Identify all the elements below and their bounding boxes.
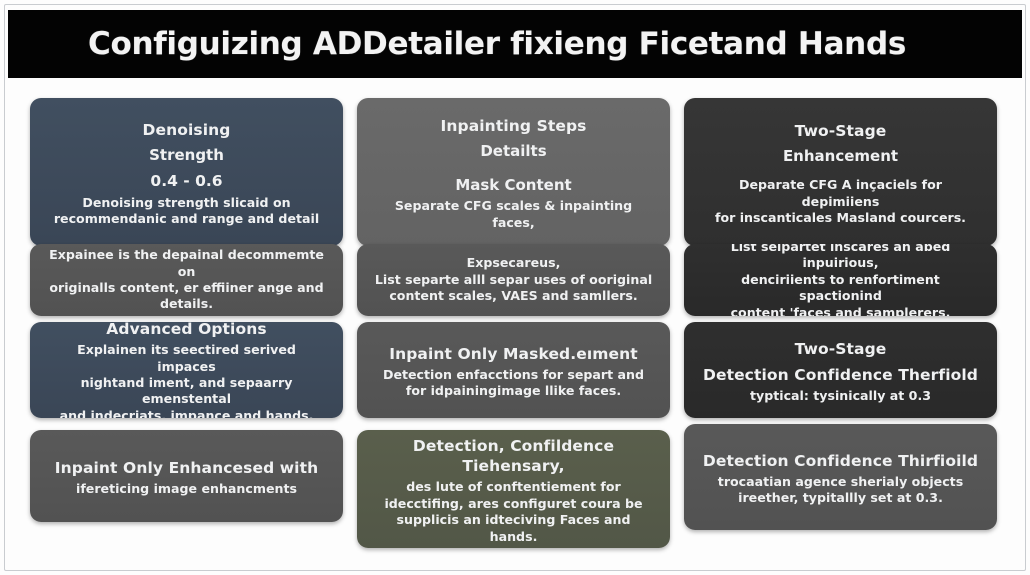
card-original-content-note[interactable]: Expainee is the depainal decommemte onor… <box>30 244 343 316</box>
card-body-line: Detection enfacctions for separt and <box>373 367 654 383</box>
card-two-stage-enhancement[interactable]: Two-StageEnhancementDeparate CFG A inçac… <box>684 98 997 246</box>
card-subtitle-line: Enhancement <box>700 147 981 167</box>
card-body-line: Explainen its seectired serived impaces <box>46 342 327 375</box>
card-body-line: ireether, typitallly set at 0.3. <box>700 490 981 506</box>
card-body-line: nightand iment, and sepaarry emenstental <box>46 375 327 408</box>
card-inpainting-steps-details[interactable]: Inpainting StepsDetailtsMask ContentSepa… <box>357 98 670 246</box>
card-body-line: supplicis an idteciving Faces and hands. <box>373 512 654 545</box>
card-detection-confidence-threshold[interactable]: Detection Confidence Thirfioildtrocaatia… <box>684 424 997 530</box>
header-bar: Configuizing ADDetailer fixieng Ficetand… <box>8 10 1022 78</box>
card-body-line: recommendanic and range and detail <box>46 211 327 227</box>
card-spacer <box>700 169 981 177</box>
card-expsecareus-note[interactable]: Expsecareus,List separte alll separ uses… <box>357 244 670 316</box>
card-body-line: and indecriats, impance and hands. <box>46 408 327 418</box>
card-title-line: Inpaint Only Masked.eıment <box>373 344 654 364</box>
card-title-line: Detection Confidence Therfiold <box>700 365 981 385</box>
card-body-line: Deparate CFG A inçaciels for depimiiens <box>700 177 981 210</box>
card-body-line: List separte alll separ uses of oorigina… <box>373 272 654 288</box>
card-denoising-strength[interactable]: DenoisingStrength0.4 - 0.6Denoising stre… <box>30 98 343 246</box>
card-inpaint-only-enhanced[interactable]: Inpaint Only Enhancesed withifereticing … <box>30 430 343 522</box>
card-title-line: Two-Stage <box>700 121 981 141</box>
infographic-page: Configuizing ADDetailer fixieng Ficetand… <box>0 0 1030 575</box>
card-body-line: Separate CFG scales & inpainting faces, <box>373 198 654 231</box>
card-title-line: Inpainting Steps <box>373 116 654 136</box>
card-title-line: Detection Confidence Thirfioild <box>700 451 981 471</box>
card-list-seipartet-note[interactable]: List seipartet inscares an abed inpuirio… <box>684 244 997 316</box>
card-title-line: Detection, Confildence Tiehensary, <box>373 436 654 476</box>
card-body-line: originalls content, er effiiner ange and… <box>46 280 327 313</box>
card-subtitle-line: Mask Content <box>373 176 654 196</box>
card-body-line: typtical: tysinically at 0.3 <box>700 388 981 404</box>
card-subtitle-line: Strength <box>46 146 327 166</box>
card-title-line: Denoising <box>46 120 327 140</box>
card-body-line: des lute of conftentiement for <box>373 479 654 495</box>
card-body-line: List seipartet inscares an abed inpuirio… <box>700 244 981 272</box>
card-advanced-options[interactable]: Advanced OptionsExplainen its seectired … <box>30 322 343 418</box>
card-body-line: content scales, VAES and samllers. <box>373 288 654 304</box>
card-inpaint-only-masked[interactable]: Inpaint Only Masked.eımentDetection enfa… <box>357 322 670 418</box>
card-title-line: Two-Stage <box>700 339 981 359</box>
card-body-line: trocaatian agence sherialy objects <box>700 474 981 490</box>
card-spacer <box>373 165 654 173</box>
card-body-line: Expsecareus, <box>373 255 654 271</box>
card-body-line: idecctifing, ares configuret coura be <box>373 496 654 512</box>
card-body-line: denciriients to renfortiment spactionind <box>700 272 981 305</box>
card-title-line: Advanced Options <box>46 322 327 339</box>
card-two-stage-detection-confidence[interactable]: Two-StageDetection Confidence Therfioldt… <box>684 322 997 418</box>
card-body-line: content 'faces and samplerers. <box>700 305 981 316</box>
card-body-line: ifereticing image enhancments <box>46 481 327 497</box>
card-body-line: for idpainingimage llike faces. <box>373 383 654 399</box>
card-subtitle-line: Detailts <box>373 142 654 162</box>
card-title-line: Inpaint Only Enhancesed with <box>46 458 327 478</box>
card-grid: DenoisingStrength0.4 - 0.6Denoising stre… <box>0 88 1030 558</box>
card-value-line: 0.4 - 0.6 <box>46 171 327 191</box>
card-body-line: for inscanticales Masland courcers. <box>700 210 981 226</box>
card-body-line: Denoising strength slicaid on <box>46 195 327 211</box>
card-detection-confidence-olive[interactable]: Detection, Confildence Tiehensary,des lu… <box>357 430 670 548</box>
page-title: Configuizing ADDetailer fixieng Ficetand… <box>88 26 906 62</box>
card-body-line: Expainee is the depainal decommemte on <box>46 247 327 280</box>
